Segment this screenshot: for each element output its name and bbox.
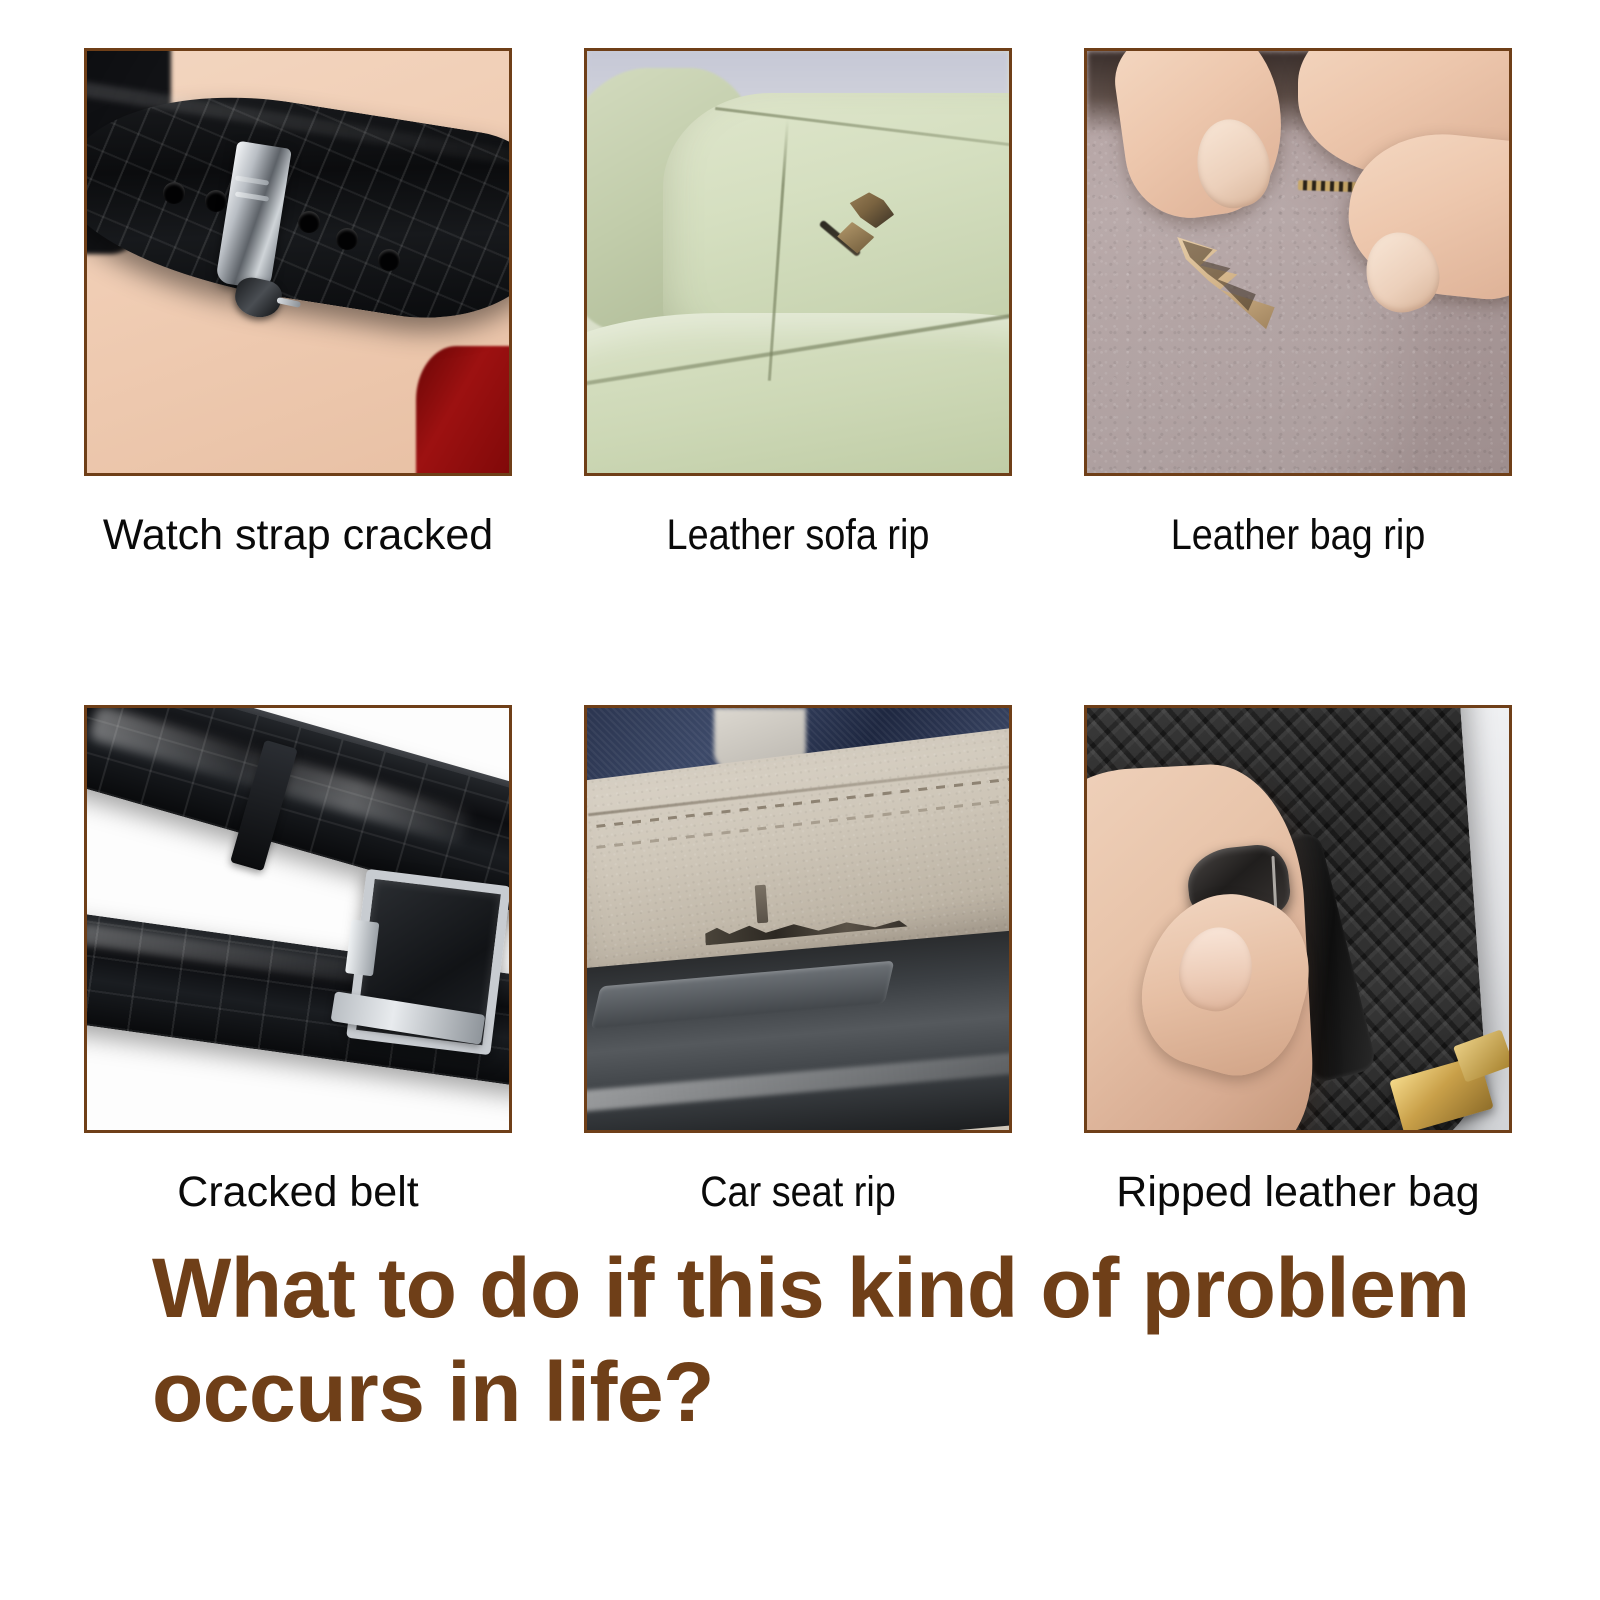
leather-sofa-rip-photo <box>587 51 1009 473</box>
photo-frame <box>1084 705 1512 1133</box>
photo-frame <box>84 48 512 476</box>
strap-hole <box>163 182 185 204</box>
photo-caption: Car seat rip <box>610 1167 987 1217</box>
problem-card-leather-sofa: Leather sofa rip <box>584 48 1012 560</box>
photo-frame <box>1084 48 1512 476</box>
tear-flap <box>837 222 874 254</box>
car-seat-rip-photo <box>587 708 1009 1130</box>
photo-red-corner-region <box>416 346 509 473</box>
watch-strap-shape <box>87 69 509 337</box>
cracked-belt-photo <box>87 708 509 1130</box>
headline-line-2: occurs in life? <box>152 1340 1482 1444</box>
sofa-seat-cushion <box>587 313 1009 473</box>
problem-photo-grid: Watch strap cracked <box>84 48 1512 1217</box>
photo-caption: Leather bag rip <box>1110 510 1487 560</box>
watch-strap-cracked-photo <box>87 51 509 473</box>
photo-caption: Watch strap cracked <box>84 510 512 560</box>
photo-grid-row-2: Cracked belt <box>84 705 1512 1217</box>
problem-card-cracked-belt: Cracked belt <box>84 705 512 1217</box>
photo-caption: Ripped leather bag <box>1084 1167 1512 1217</box>
photo-frame <box>584 48 1012 476</box>
headline-line-1: What to do if this kind of problem <box>152 1236 1482 1340</box>
photo-frame <box>84 705 512 1133</box>
problem-card-ripped-leather-bag: Ripped leather bag <box>1084 705 1512 1217</box>
photo-grid-row-1: Watch strap cracked <box>84 48 1512 560</box>
problem-card-car-seat: Car seat rip <box>584 705 1012 1217</box>
ripped-leather-bag-photo <box>1087 708 1509 1130</box>
seat-tear-flap <box>754 885 767 924</box>
photo-caption: Cracked belt <box>84 1167 512 1217</box>
leather-bag-rip-photo <box>1087 51 1509 473</box>
headline: What to do if this kind of problem occur… <box>152 1236 1482 1444</box>
photo-caption: Leather sofa rip <box>610 510 987 560</box>
problem-card-leather-bag: Leather bag rip <box>1084 48 1512 560</box>
photo-frame <box>584 705 1012 1133</box>
sofa-tear <box>806 186 916 292</box>
product-infographic-page: Watch strap cracked <box>0 0 1600 1600</box>
problem-card-watch-strap: Watch strap cracked <box>84 48 512 560</box>
